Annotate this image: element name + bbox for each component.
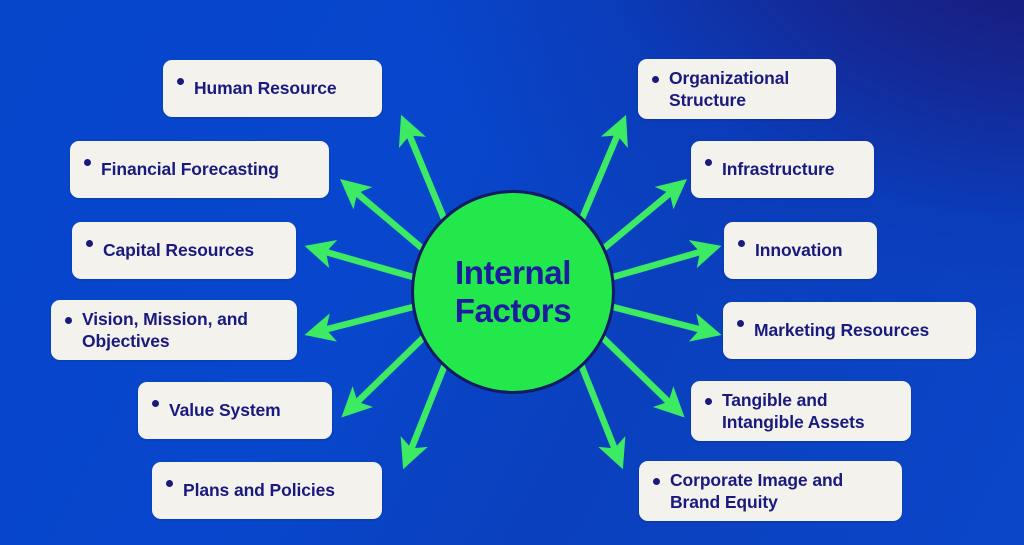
arrow-to-innovation (613, 248, 714, 277)
node-card-label: Plans and Policies (183, 479, 335, 501)
arrow-to-tangible-intangible-assets (602, 337, 679, 412)
node-card-label: Corporate Image and Brand Equity (670, 469, 843, 514)
bullet-icon (65, 317, 72, 324)
arrow-to-vision-mission-objectives (312, 307, 413, 333)
arrow-to-corporate-image-brand-equity (580, 362, 620, 462)
bullet-icon (705, 159, 712, 166)
node-card-financial-forecasting[interactable]: Financial Forecasting (70, 141, 329, 198)
center-node-label: Internal Factors (414, 254, 612, 329)
arrow-to-organizational-structure (581, 122, 623, 221)
center-node[interactable]: Internal Factors (411, 190, 615, 394)
arrow-to-human-resource (404, 122, 445, 221)
arrow-to-capital-resources (312, 248, 413, 277)
diagram-canvas: Internal Factors Human Resource Financia… (0, 0, 1024, 545)
node-card-label: Capital Resources (103, 239, 254, 261)
arrow-to-marketing-resources (613, 307, 714, 333)
bullet-icon (86, 240, 93, 247)
bullet-icon (152, 400, 159, 407)
node-card-label: Innovation (755, 239, 842, 261)
node-card-tangible-intangible-assets[interactable]: Tangible and Intangible Assets (691, 381, 911, 441)
bullet-icon (737, 320, 744, 327)
bullet-icon (84, 159, 91, 166)
node-card-label: Infrastructure (722, 158, 834, 180)
node-card-label: Value System (169, 399, 281, 421)
bullet-icon (177, 78, 184, 85)
node-card-organizational-structure[interactable]: Organizational Structure (638, 59, 836, 119)
node-card-capital-resources[interactable]: Capital Resources (72, 222, 296, 279)
node-card-innovation[interactable]: Innovation (724, 222, 877, 279)
bullet-icon (653, 478, 660, 485)
node-card-vision-mission-objectives[interactable]: Vision, Mission, and Objectives (51, 300, 297, 360)
node-card-label: Organizational Structure (669, 67, 789, 112)
node-card-label: Vision, Mission, and Objectives (82, 308, 248, 353)
node-card-value-system[interactable]: Value System (138, 382, 332, 439)
bullet-icon (652, 76, 659, 83)
node-card-human-resource[interactable]: Human Resource (163, 60, 382, 117)
node-card-label: Tangible and Intangible Assets (722, 389, 865, 434)
arrow-to-infrastructure (603, 184, 681, 249)
node-card-infrastructure[interactable]: Infrastructure (691, 141, 874, 198)
bullet-icon (166, 480, 173, 487)
bullet-icon (705, 398, 712, 405)
node-card-label: Financial Forecasting (101, 158, 279, 180)
node-card-label: Human Resource (194, 77, 337, 99)
node-card-marketing-resources[interactable]: Marketing Resources (723, 302, 976, 359)
node-card-corporate-image-brand-equity[interactable]: Corporate Image and Brand Equity (639, 461, 902, 521)
arrow-to-plans-and-policies (406, 362, 446, 462)
node-card-label: Marketing Resources (754, 319, 929, 341)
node-card-plans-and-policies[interactable]: Plans and Policies (152, 462, 382, 519)
bullet-icon (738, 240, 745, 247)
arrow-to-value-system (347, 337, 424, 412)
arrow-to-financial-forecasting (346, 184, 423, 249)
